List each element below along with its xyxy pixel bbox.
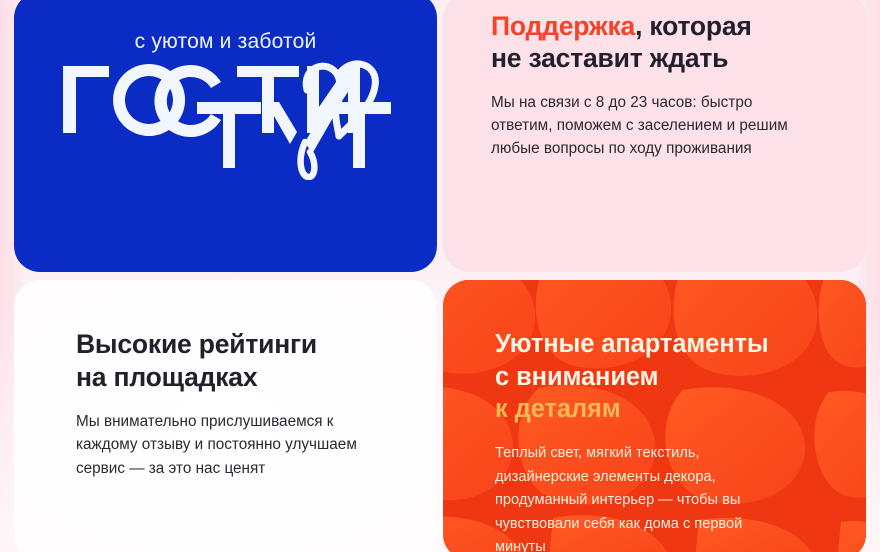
support-body: Мы на связи с 8 до 23 часов: быстро отве… — [491, 91, 791, 161]
apartments-card[interactable]: Уютные апартаменты с вниманием к деталям… — [443, 280, 866, 552]
support-heading-rest: , которая — [635, 11, 752, 41]
apartments-heading-line2: с вниманием — [495, 363, 658, 391]
gostim-tut-wordmark — [61, 60, 391, 180]
support-heading-line2: не заставит ждать — [491, 43, 728, 73]
ratings-card[interactable]: Высокие рейтинги на площадках Мы внимате… — [14, 280, 437, 552]
ratings-body: Мы внимательно прислушиваемся к каждому … — [76, 410, 386, 481]
ratings-heading-line1: Высокие рейтинги — [76, 329, 317, 359]
ratings-heading: Высокие рейтинги на площадках — [76, 328, 407, 394]
apartments-content: Уютные апартаменты с вниманием к деталям… — [495, 328, 840, 552]
feature-card-grid: с уютом и заботой — [14, 0, 866, 552]
apartments-body: Теплый свет, мягкий текстиль, дизайнерск… — [495, 442, 785, 552]
brand-logo-card[interactable]: с уютом и заботой — [14, 0, 437, 272]
apartments-heading-line1: Уютные апартаменты — [495, 330, 769, 358]
ratings-heading-line2: на площадках — [76, 362, 257, 392]
brand-tagline: с уютом и заботой — [135, 30, 317, 54]
support-card[interactable]: Поддержка, которая не заставит ждать Мы … — [443, 0, 866, 272]
support-heading: Поддержка, которая не заставит ждать — [491, 10, 832, 75]
apartments-heading-highlight: к деталям — [495, 395, 621, 423]
apartments-heading: Уютные апартаменты с вниманием к деталям — [495, 328, 840, 426]
support-heading-highlight: Поддержка — [491, 11, 635, 41]
